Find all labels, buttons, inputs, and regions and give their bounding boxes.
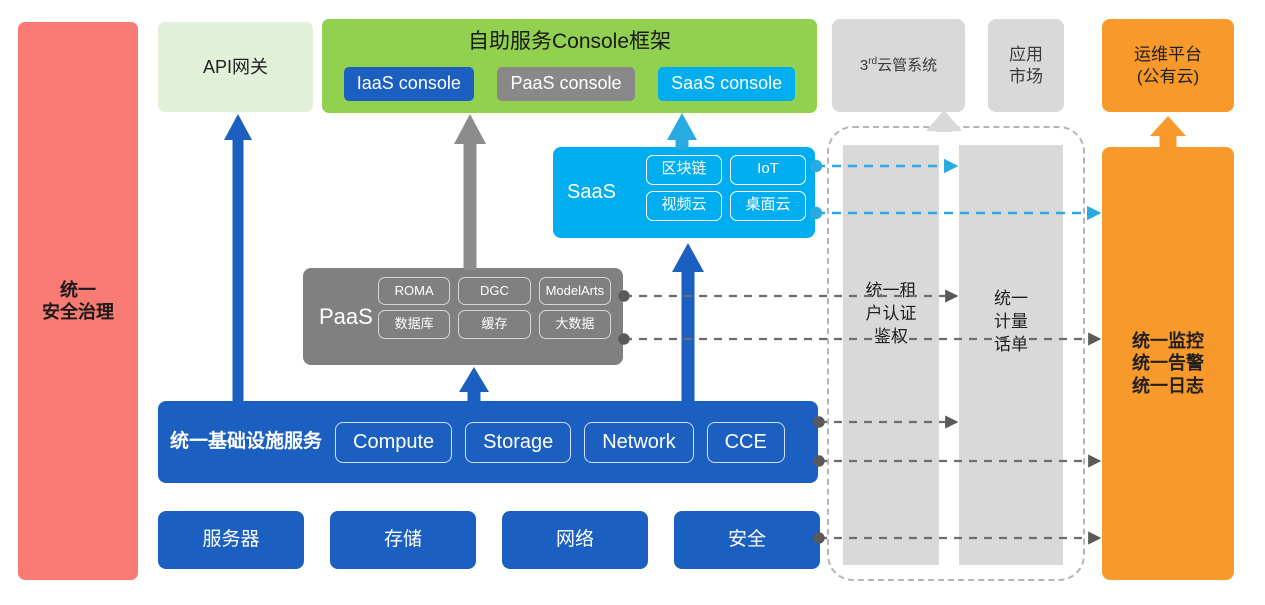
paas-service-dgc[interactable]: DGC bbox=[458, 277, 530, 305]
saas-service-grid: 区块链 IoT 视频云 桌面云 bbox=[646, 155, 806, 221]
saas-console-pill[interactable]: SaaS console bbox=[658, 67, 795, 101]
security-line-2: 安全治理 bbox=[42, 301, 114, 324]
third-party-cloud-mgmt-box: 3rd云管系统 bbox=[832, 19, 965, 112]
paas-service-bigdata[interactable]: 大数据 bbox=[539, 310, 611, 338]
saas-service-blockchain[interactable]: 区块链 bbox=[646, 155, 722, 185]
api-gateway-box: API网关 bbox=[158, 22, 313, 112]
ops-platform-header-box: 运维平台 (公有云) bbox=[1102, 19, 1234, 112]
paas-service-cache[interactable]: 缓存 bbox=[458, 310, 530, 338]
ops-body-line-3: 统一日志 bbox=[1132, 375, 1204, 398]
resource-box-network: 网络 bbox=[502, 511, 648, 569]
resource-label-security: 安全 bbox=[728, 528, 766, 552]
infra-service-cce[interactable]: CCE bbox=[707, 422, 785, 463]
infrastructure-label: 统一基础设施服务 bbox=[170, 430, 322, 454]
saas-label: SaaS bbox=[567, 180, 616, 205]
security-line-1: 统一 bbox=[42, 279, 114, 302]
metering-line-1: 统一 bbox=[959, 288, 1063, 311]
arrow-infra-to-saas bbox=[672, 243, 704, 404]
tenant-auth-line-3: 鉴权 bbox=[843, 326, 939, 349]
tenant-auth-column bbox=[843, 145, 939, 565]
ops-body-line-2: 统一告警 bbox=[1132, 352, 1204, 375]
cloud-mgmt-rest: 云管系统 bbox=[877, 57, 937, 74]
ops-head-line-1: 运维平台 bbox=[1134, 44, 1202, 65]
console-framework-panel: 自助服务Console框架 IaaS console PaaS console … bbox=[322, 19, 817, 113]
arrow-infra-to-paas bbox=[459, 367, 489, 404]
console-framework-title: 自助服务Console框架 bbox=[322, 29, 817, 55]
cloud-mgmt-label: 3rd云管系统 bbox=[860, 56, 937, 76]
paas-service-modelarts[interactable]: ModelArts bbox=[539, 277, 611, 305]
saas-service-video-cloud[interactable]: 视频云 bbox=[646, 191, 722, 221]
infra-service-network[interactable]: Network bbox=[584, 422, 693, 463]
infra-service-storage[interactable]: Storage bbox=[465, 422, 571, 463]
metering-billing-label: 统一 计量 话单 bbox=[959, 288, 1063, 357]
tenant-auth-line-2: 户认证 bbox=[843, 303, 939, 326]
resource-box-storage: 存储 bbox=[330, 511, 476, 569]
saas-service-desktop-cloud[interactable]: 桌面云 bbox=[730, 191, 806, 221]
tenant-auth-line-1: 统一租 bbox=[843, 280, 939, 303]
resource-label-storage: 存储 bbox=[384, 528, 422, 552]
tenant-auth-label: 统一租 户认证 鉴权 bbox=[843, 280, 939, 349]
arrow-paas-to-console bbox=[454, 114, 486, 270]
api-gateway-label: API网关 bbox=[203, 56, 268, 79]
resource-box-security: 安全 bbox=[674, 511, 820, 569]
metering-line-2: 计量 bbox=[959, 311, 1063, 334]
resource-label-network: 网络 bbox=[556, 528, 594, 552]
arrow-saas-to-console bbox=[667, 113, 697, 150]
ops-head-line-2: (公有云) bbox=[1134, 66, 1202, 87]
app-market-line-1: 应用 bbox=[1009, 44, 1043, 65]
cloud-mgmt-superscript: rd bbox=[868, 56, 877, 67]
paas-panel: PaaS ROMA DGC ModelArts 数据库 缓存 大数据 bbox=[303, 268, 623, 365]
infra-service-compute[interactable]: Compute bbox=[335, 422, 452, 463]
arrow-infra-to-api-gateway bbox=[224, 114, 252, 404]
app-market-box: 应用 市场 bbox=[988, 19, 1064, 112]
paas-console-pill[interactable]: PaaS console bbox=[497, 67, 634, 101]
saas-service-iot[interactable]: IoT bbox=[730, 155, 806, 185]
cloud-mgmt-prefix: 3 bbox=[860, 57, 868, 74]
ops-body-line-1: 统一监控 bbox=[1132, 330, 1204, 353]
arrow-ops-body-to-ops-head bbox=[1150, 116, 1186, 148]
metering-line-3: 话单 bbox=[959, 334, 1063, 357]
security-governance-panel: 统一 安全治理 bbox=[18, 22, 138, 580]
resource-box-server: 服务器 bbox=[158, 511, 304, 569]
resource-label-server: 服务器 bbox=[202, 528, 259, 552]
unified-infrastructure-panel: 统一基础设施服务 Compute Storage Network CCE bbox=[158, 401, 818, 483]
console-pill-group: IaaS console PaaS console SaaS console bbox=[322, 67, 817, 101]
app-market-line-2: 市场 bbox=[1009, 66, 1043, 87]
paas-label: PaaS bbox=[319, 303, 373, 331]
paas-service-database[interactable]: 数据库 bbox=[378, 310, 450, 338]
saas-panel: SaaS 区块链 IoT 视频云 桌面云 bbox=[553, 147, 815, 238]
paas-service-roma[interactable]: ROMA bbox=[378, 277, 450, 305]
iaas-console-pill[interactable]: IaaS console bbox=[344, 67, 474, 101]
ops-platform-body-panel: 统一监控 统一告警 统一日志 bbox=[1102, 147, 1234, 580]
paas-service-grid: ROMA DGC ModelArts 数据库 缓存 大数据 bbox=[378, 277, 611, 339]
architecture-diagram: 统一 安全治理 API网关 自助服务Console框架 IaaS console… bbox=[0, 0, 1265, 605]
